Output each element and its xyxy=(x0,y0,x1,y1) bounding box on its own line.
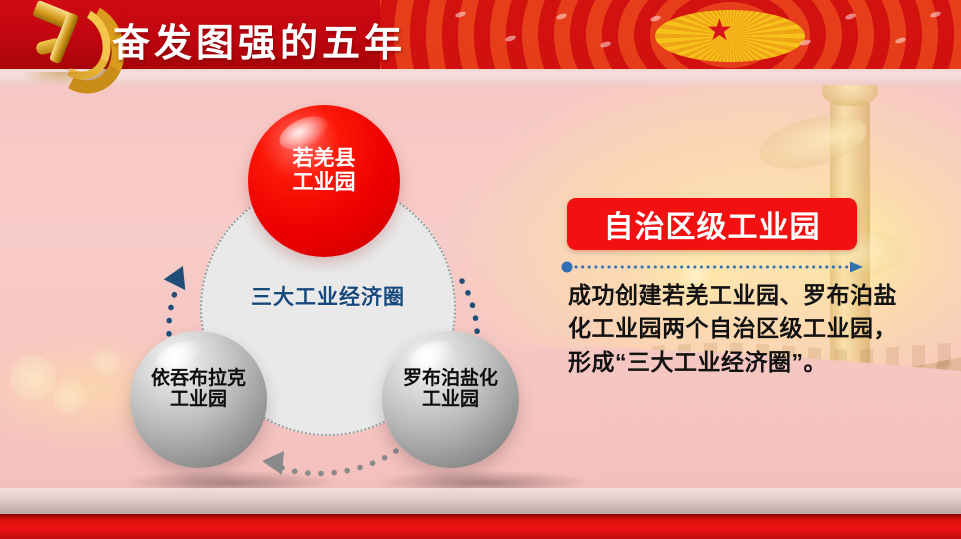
node-yitunbulake[interactable]: 依吞布拉克 工业园 xyxy=(130,331,267,468)
node-yitunbulake-label: 依吞布拉克 工业园 xyxy=(130,368,267,411)
bottom-arrow-left-icon xyxy=(262,451,396,475)
emblem-reflection xyxy=(20,72,100,86)
status-badge: 自治区级工业园 xyxy=(567,198,857,250)
slide-root: ★ 奋发图强的五年 三大工业经济圈 xyxy=(0,0,961,539)
bottom-red-bar xyxy=(0,514,961,539)
divider-dot-icon xyxy=(562,262,573,273)
body-text: 成功创建若羌工业园、罗布泊盐化工业园两个自治区级工业园，形成“三大工业经济圈”。 xyxy=(568,279,898,379)
badge-label: 自治区级工业园 xyxy=(604,202,821,246)
hammer-sickle-emblem-icon xyxy=(18,0,114,80)
node-ruoqiang-label: 若羌县 工业园 xyxy=(248,147,400,194)
right-content-panel: 自治区级工业园 成功创建若羌工业园、罗布泊盐化工业园两个自治区级工业园，形成“三… xyxy=(560,85,961,505)
star-glyph: ★ xyxy=(706,16,733,46)
divider xyxy=(560,261,880,273)
divider-arrow-icon xyxy=(850,262,863,273)
three-circle-diagram: 三大工业经济圈 若羌县 工业园 依吞布拉克 工业园 xyxy=(0,85,560,505)
node-luobupo-label: 罗布泊盐化 工业园 xyxy=(382,368,519,411)
node-luobupo[interactable]: 罗布泊盐化 工业园 xyxy=(382,331,519,468)
header-shelf xyxy=(0,69,961,85)
node-ruoqiang[interactable]: 若羌县 工业园 xyxy=(248,105,400,257)
page-title: 奋发图强的五年 xyxy=(112,12,406,67)
